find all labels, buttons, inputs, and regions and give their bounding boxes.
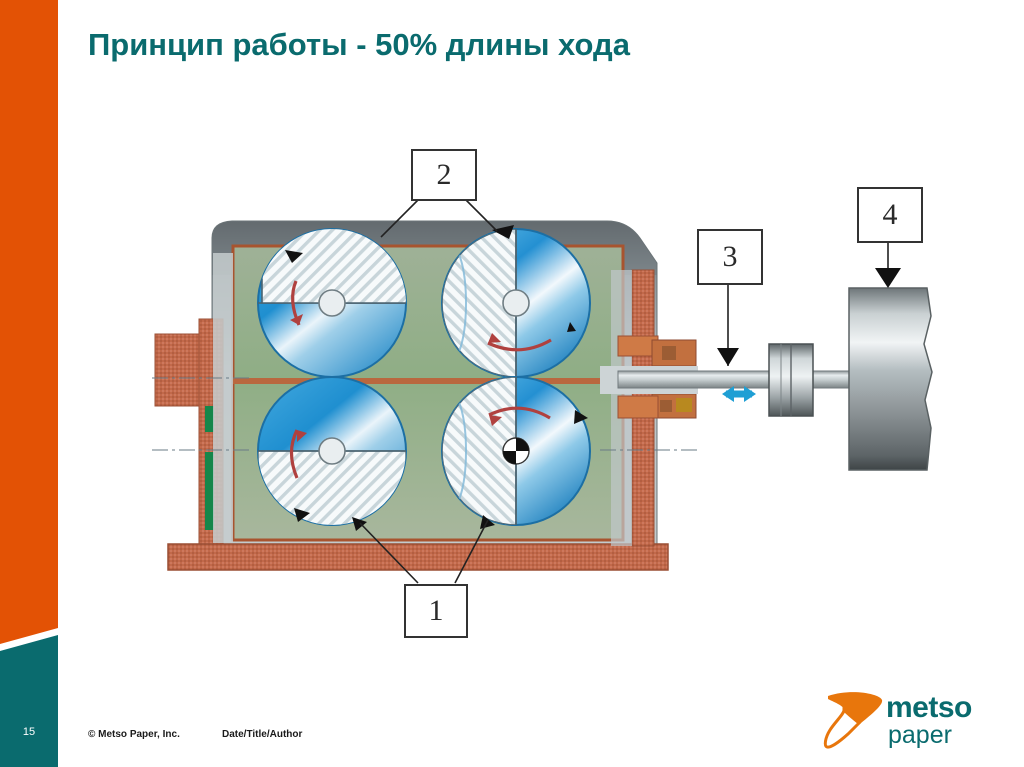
stroke-double-arrow-icon [722, 386, 756, 402]
logo-wordmark-paper: paper [888, 721, 952, 750]
flow-marker [574, 410, 588, 424]
center-axis-lines [152, 378, 700, 450]
flow-marker [567, 322, 576, 332]
disc-bottom-left [258, 377, 406, 599]
flow-marker [352, 517, 367, 531]
callout-box-1[interactable]: 1 [404, 584, 468, 638]
slide-root: 15 Принцип работы - 50% длины хода © Met… [0, 0, 1024, 767]
chamber-divider [233, 378, 623, 384]
footer-date-title-author: Date/Title/Author [222, 729, 302, 740]
disc-top-left [258, 204, 410, 377]
flow-marker [294, 508, 310, 522]
callout-box-4[interactable]: 4 [857, 187, 923, 243]
machine-cutaway-diagram [0, 0, 1024, 767]
bearing-assembly [600, 336, 698, 418]
working-chamber [233, 246, 623, 540]
drive-cylinder [849, 288, 932, 470]
left-flange [155, 253, 233, 554]
orange-block [0, 0, 58, 652]
disc-hub [319, 438, 345, 464]
left-accent-bar [0, 0, 58, 767]
right-support-column [611, 270, 654, 546]
page-number: 15 [0, 726, 58, 738]
shaft-collar [769, 344, 813, 416]
disc-hub [319, 290, 345, 316]
disc-hub-checkered [503, 438, 529, 464]
output-shaft [618, 371, 854, 388]
metso-paper-logo: metso paper [818, 690, 1008, 752]
page-title: Принцип работы - 50% длины хода [88, 27, 630, 63]
base-plate [168, 544, 668, 570]
disc-hub [503, 290, 529, 316]
logo-wordmark-metso: metso [886, 691, 972, 725]
callout-box-3[interactable]: 3 [697, 229, 763, 285]
disc-bottom-right [438, 377, 590, 529]
flow-marker [480, 515, 495, 529]
callout-box-2[interactable]: 2 [411, 149, 477, 201]
flow-marker [492, 225, 514, 239]
footer-copyright: © Metso Paper, Inc. [88, 729, 180, 740]
machine-housing [212, 221, 657, 548]
callout-leader-lines [360, 197, 888, 583]
metso-leaf-icon [818, 690, 888, 752]
flow-marker [285, 250, 303, 263]
disc-top-right [438, 225, 590, 377]
